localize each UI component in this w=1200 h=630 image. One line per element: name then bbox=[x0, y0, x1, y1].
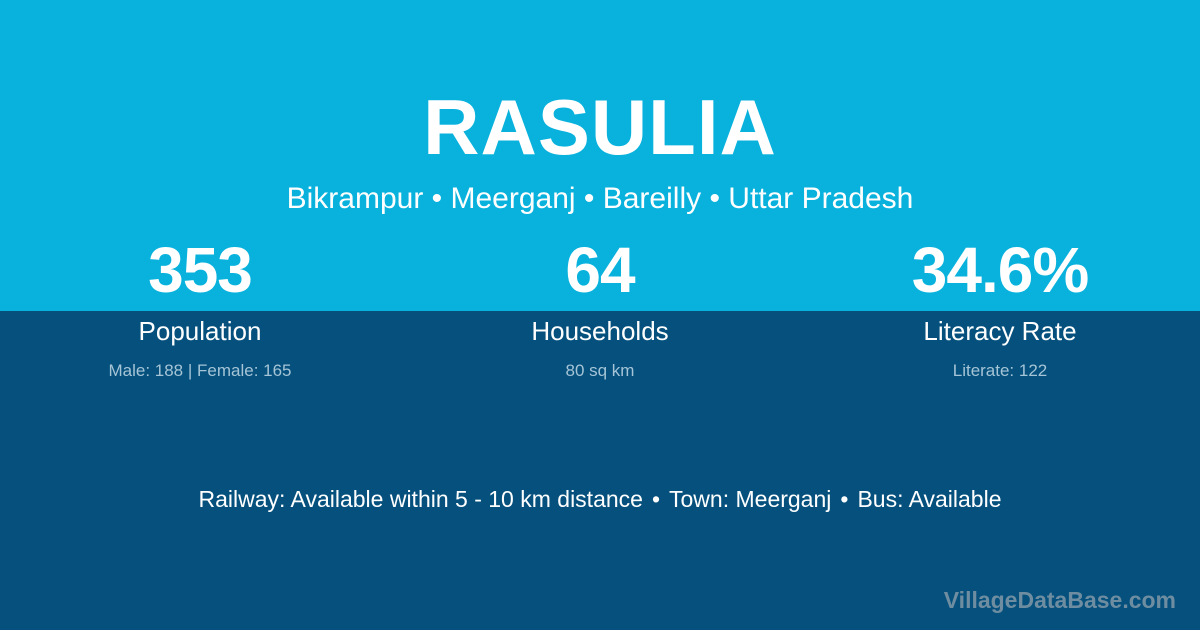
stat-literacy-rate-label: Literacy Rate bbox=[800, 318, 1200, 348]
stat-population-value: 353 bbox=[0, 238, 400, 308]
stat-population-label: Population bbox=[0, 318, 400, 348]
stat-population-sub: Male: 188 | Female: 165 bbox=[0, 362, 400, 379]
facility-railway: Railway: Available within 5 - 10 km dist… bbox=[198, 486, 642, 512]
stat-literacy-rate: 34.6% Literacy Rate Literate: 122 bbox=[800, 238, 1200, 379]
stat-literacy-rate-sub: Literate: 122 bbox=[800, 362, 1200, 379]
stat-households-label: Households bbox=[400, 318, 800, 348]
facility-bus: Bus: Available bbox=[857, 486, 1001, 512]
page-title: RASULIA bbox=[0, 88, 1200, 166]
facility-town: Town: Meerganj bbox=[669, 486, 831, 512]
breadcrumb: Bikrampur • Meerganj • Bareilly • Uttar … bbox=[0, 182, 1200, 217]
facilities-line: Railway: Available within 5 - 10 km dist… bbox=[0, 486, 1200, 514]
stat-population: 353 Population Male: 188 | Female: 165 bbox=[0, 238, 400, 379]
village-info-card: RASULIA Bikrampur • Meerganj • Bareilly … bbox=[0, 0, 1200, 630]
stat-literacy-rate-value: 34.6% bbox=[800, 238, 1200, 308]
facility-separator-1: • bbox=[643, 486, 669, 512]
stats-row: 353 Population Male: 188 | Female: 165 6… bbox=[0, 238, 1200, 379]
stat-households-sub: 80 sq km bbox=[400, 362, 800, 379]
stat-households: 64 Households 80 sq km bbox=[400, 238, 800, 379]
stat-households-value: 64 bbox=[400, 238, 800, 308]
facility-separator-2: • bbox=[831, 486, 857, 512]
site-watermark: VillageDataBase.com bbox=[944, 589, 1176, 612]
